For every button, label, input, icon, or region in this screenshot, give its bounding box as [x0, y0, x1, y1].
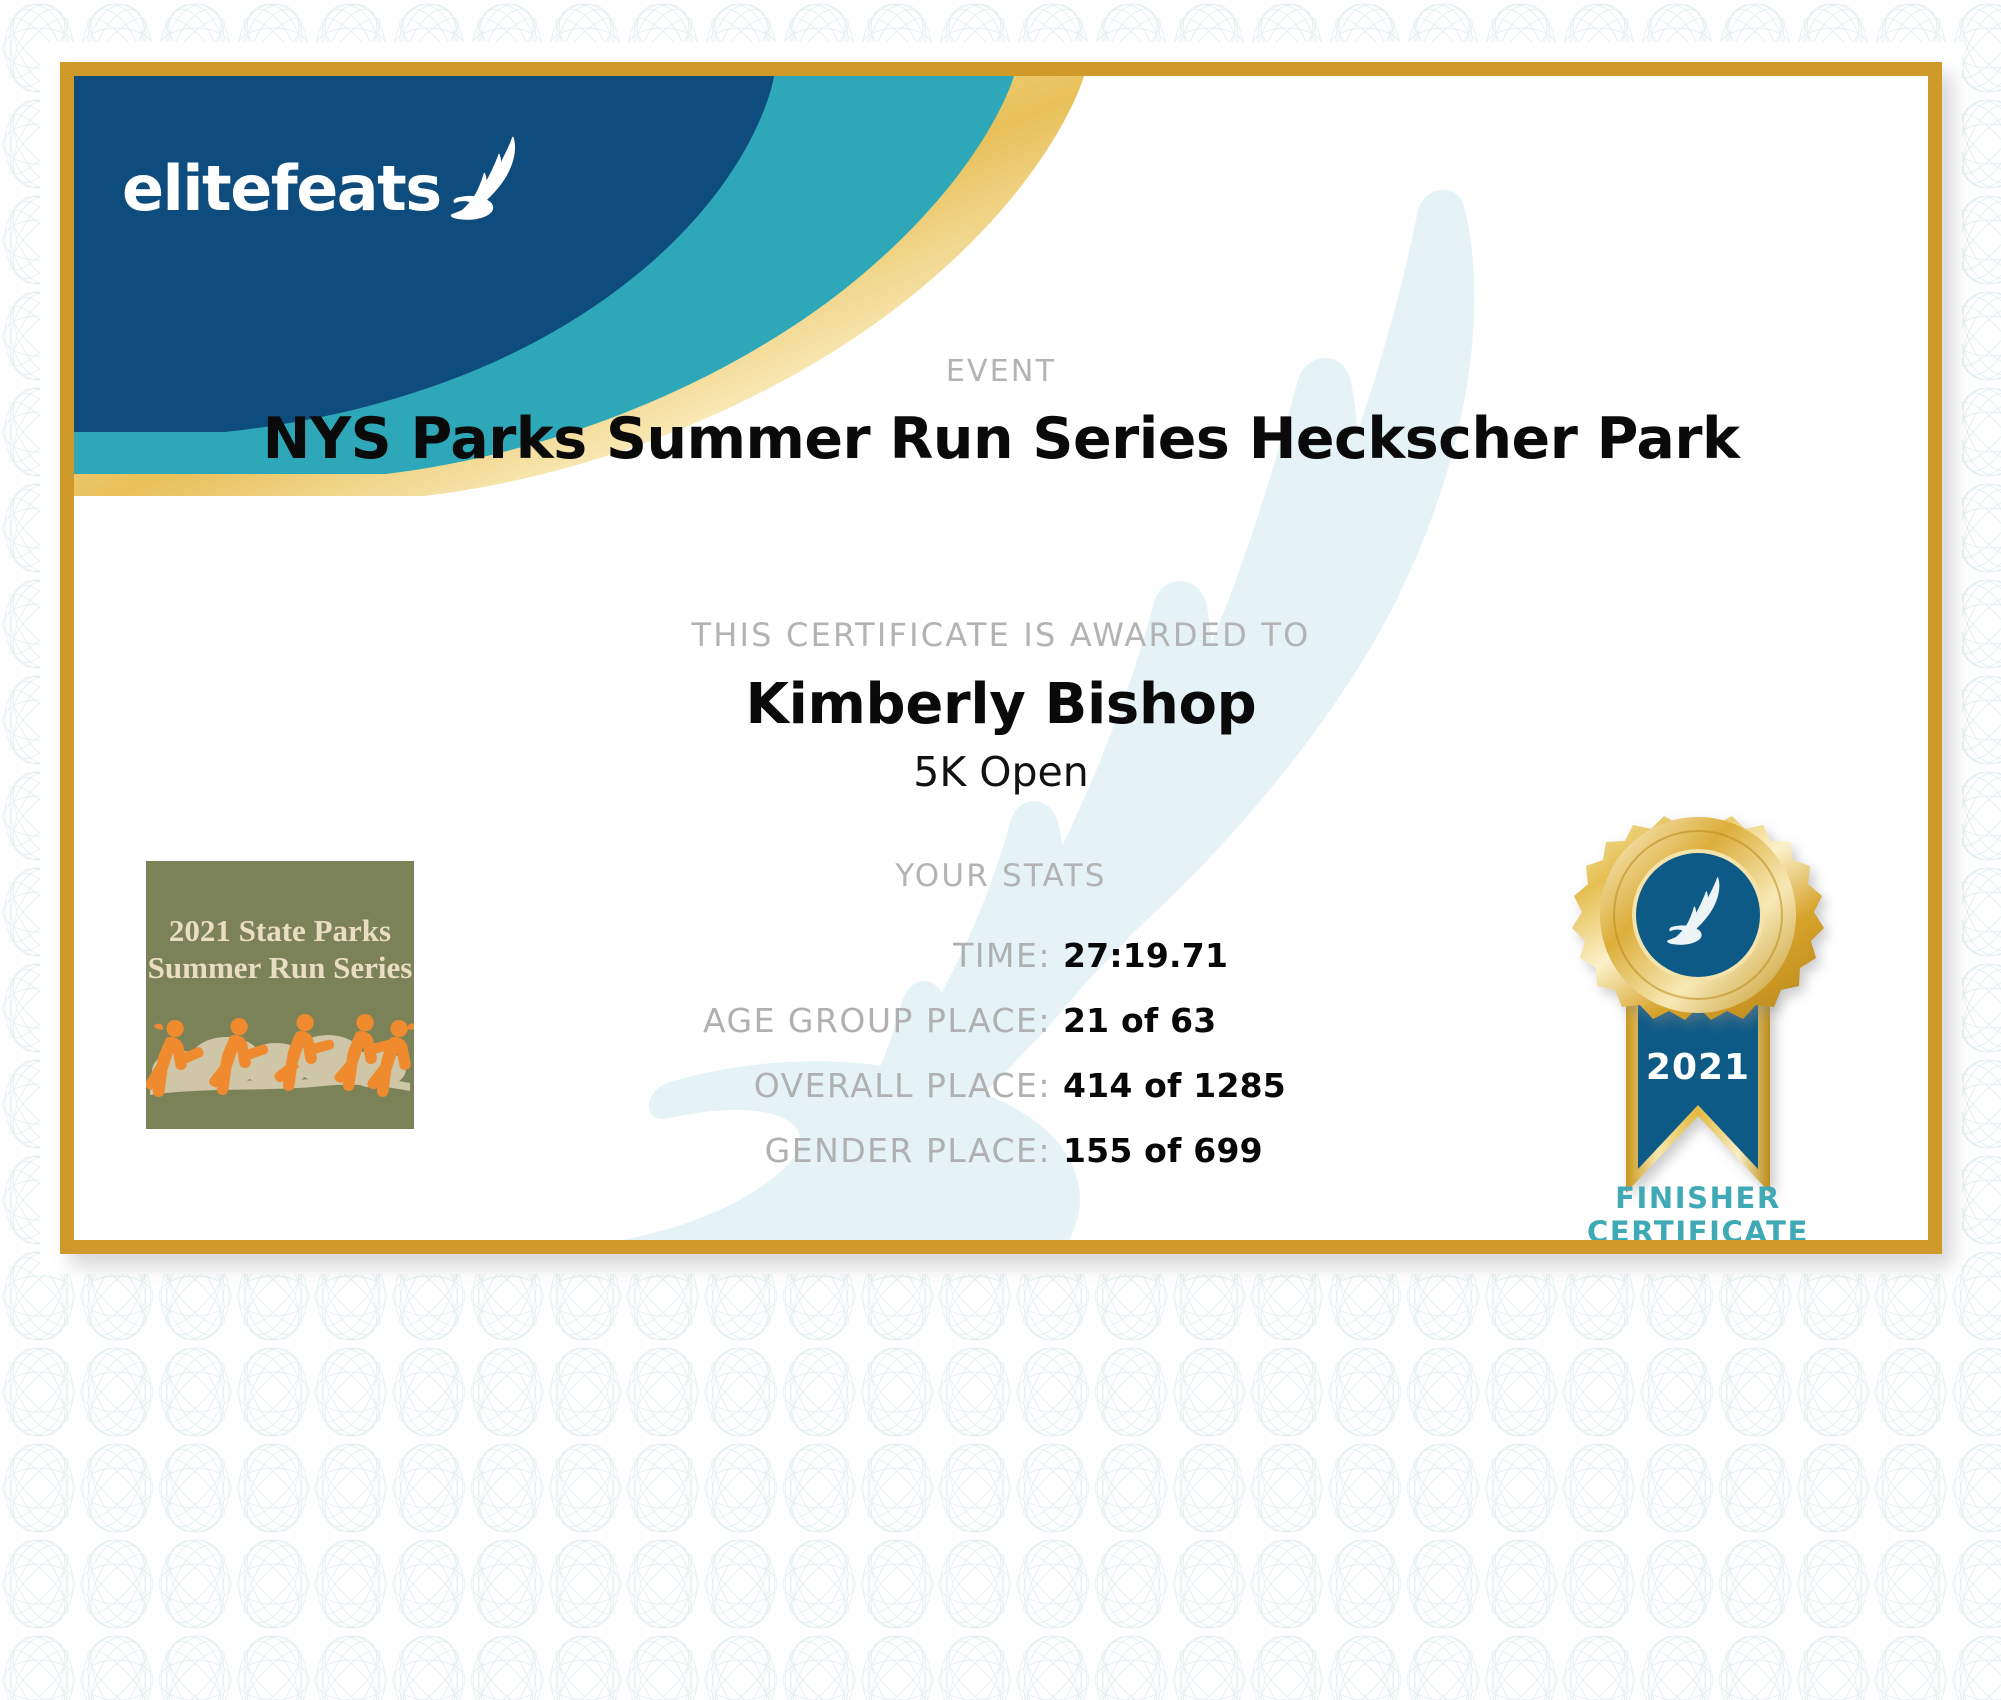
badge-year: 2021: [1646, 1047, 1750, 1088]
runners-illustration: [146, 979, 414, 1129]
certificate-card: elitefeats EVENT NYS Parks Summer Run Se…: [60, 62, 1942, 1254]
race-logo-line1: 2021 State Parks: [146, 915, 414, 948]
stat-key-time: TIME:: [491, 936, 1051, 975]
event-title: NYS Parks Summer Run Series Heckscher Pa…: [74, 406, 1928, 472]
recipient-name: Kimberly Bishop: [74, 672, 1928, 737]
stat-row-time: TIME: 27:19.71: [491, 936, 1511, 975]
race-series-logo: 2021 State Parks Summer Run Series: [146, 861, 414, 1129]
badge-caption-line1: FINISHER: [1528, 1181, 1868, 1215]
stat-value-age-group-place: 21 of 63: [1051, 1001, 1511, 1040]
stat-row-gender-place: GENDER PLACE: 155 of 699: [491, 1131, 1511, 1170]
badge-caption-line2: CERTIFICATE: [1528, 1215, 1868, 1240]
awarded-to-label: THIS CERTIFICATE IS AWARDED TO: [74, 616, 1928, 654]
stat-row-age-group-place: AGE GROUP PLACE: 21 of 63: [491, 1001, 1511, 1040]
recipient-division: 5K Open: [74, 748, 1928, 796]
badge-caption: FINISHER CERTIFICATE: [1528, 1181, 1868, 1240]
stat-key-gender-place: GENDER PLACE:: [491, 1131, 1051, 1170]
race-logo-line2: Summer Run Series: [146, 952, 414, 985]
stat-key-age-group-place: AGE GROUP PLACE:: [491, 1001, 1051, 1040]
event-label: EVENT: [74, 354, 1928, 389]
stat-key-overall-place: OVERALL PLACE:: [491, 1066, 1051, 1105]
stat-value-gender-place: 155 of 699: [1051, 1131, 1511, 1170]
certificate-page: elitefeats EVENT NYS Parks Summer Run Se…: [0, 0, 2001, 1700]
stat-value-overall-place: 414 of 1285: [1051, 1066, 1511, 1105]
stat-value-time: 27:19.71: [1051, 936, 1511, 975]
finisher-medal-badge: 2021: [1548, 811, 1848, 1240]
stat-row-overall-place: OVERALL PLACE: 414 of 1285: [491, 1066, 1511, 1105]
